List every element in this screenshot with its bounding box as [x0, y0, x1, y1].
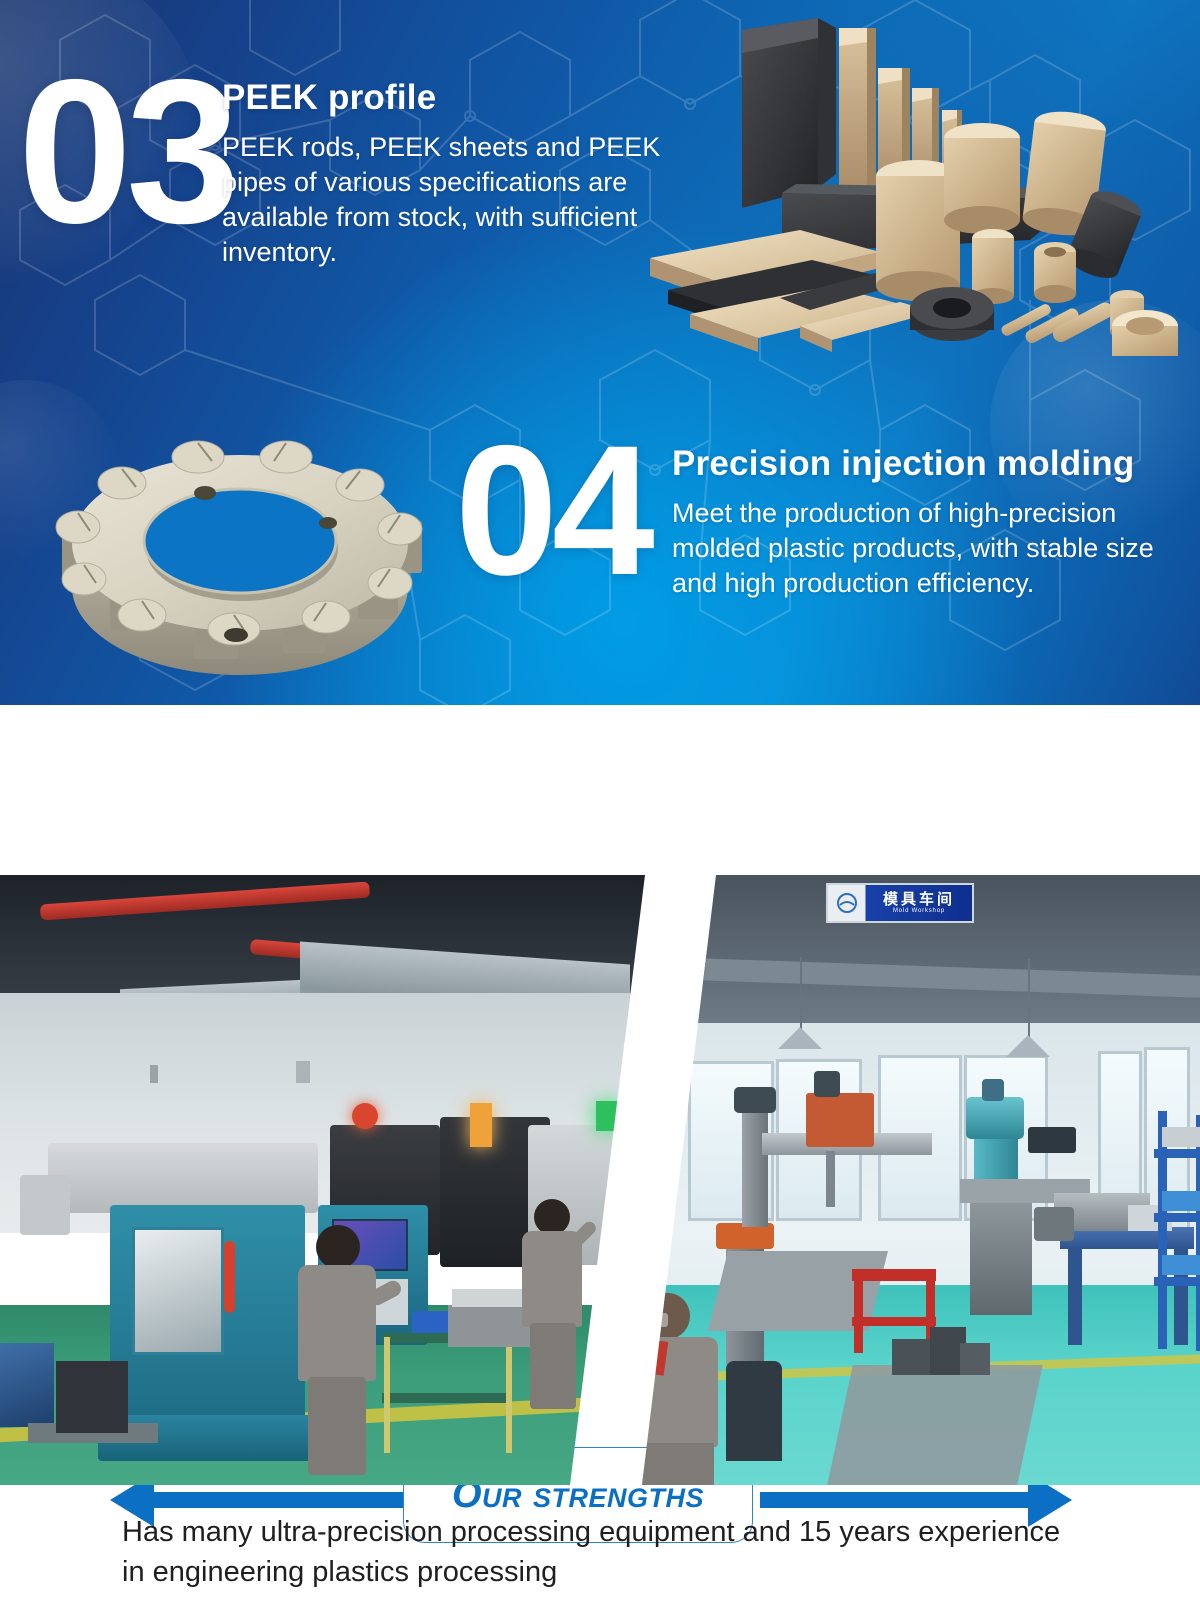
workshop-photo-strip: 模具车间 Mold Workshop — [0, 875, 1200, 1485]
section-number-03: 03 — [18, 62, 234, 242]
sign-text-en: Mold Workshop — [866, 908, 972, 914]
hero-panel: 03 PEEK profile PEEK rods, PEEK sheets a… — [0, 0, 1200, 705]
company-logo-icon — [836, 892, 858, 914]
mold-workshop-photo: 模具车间 Mold Workshop — [630, 875, 1200, 1485]
section-title-03: PEEK profile — [222, 78, 662, 118]
section-body-04: Meet the production of high-precision mo… — [672, 496, 1172, 601]
mold-workshop-sign: 模具车间 Mold Workshop — [826, 883, 974, 923]
peek-profiles-image — [650, 8, 1200, 363]
cnc-workshop-photo — [0, 875, 660, 1485]
section-block-03: PEEK profile PEEK rods, PEEK sheets and … — [222, 78, 662, 270]
our-strengths-banner: Our strengths — [0, 705, 1200, 873]
footer-caption: Has many ultra-precision processing equi… — [0, 1490, 1200, 1592]
section-block-04: Precision injection molding Meet the pro… — [672, 444, 1172, 601]
section-title-04: Precision injection molding — [672, 444, 1172, 484]
section-body-03: PEEK rods, PEEK sheets and PEEK pipes of… — [222, 130, 662, 270]
peek-gear-ring-image — [40, 405, 440, 680]
sign-text-cn: 模具车间 — [866, 892, 972, 908]
worker-figure — [508, 1199, 594, 1409]
worker-figure — [278, 1225, 388, 1475]
section-number-04: 04 — [455, 430, 649, 593]
